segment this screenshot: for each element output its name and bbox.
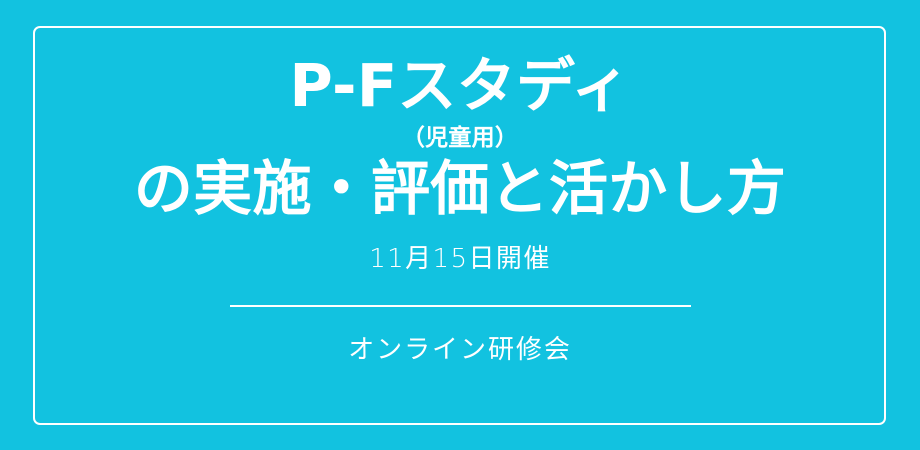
poster-title-line-1: P-Fスタディ [0,56,920,115]
poster-content: P-Fスタディ （児童用） の実施・評価と活かし方 11月15日開催 オンライン… [0,0,920,450]
seminar-poster: P-Fスタディ （児童用） の実施・評価と活かし方 11月15日開催 オンライン… [0,0,920,450]
poster-title-qualifier: （児童用） [0,127,920,150]
poster-heading-block: P-Fスタディ （児童用） の実施・評価と活かし方 [0,56,920,218]
event-format-label: オンライン研修会 [348,337,572,363]
poster-title-line-2: の実施・評価と活かし方 [0,159,920,218]
section-divider [230,305,691,307]
event-date: 11月15日開催 [369,246,551,272]
